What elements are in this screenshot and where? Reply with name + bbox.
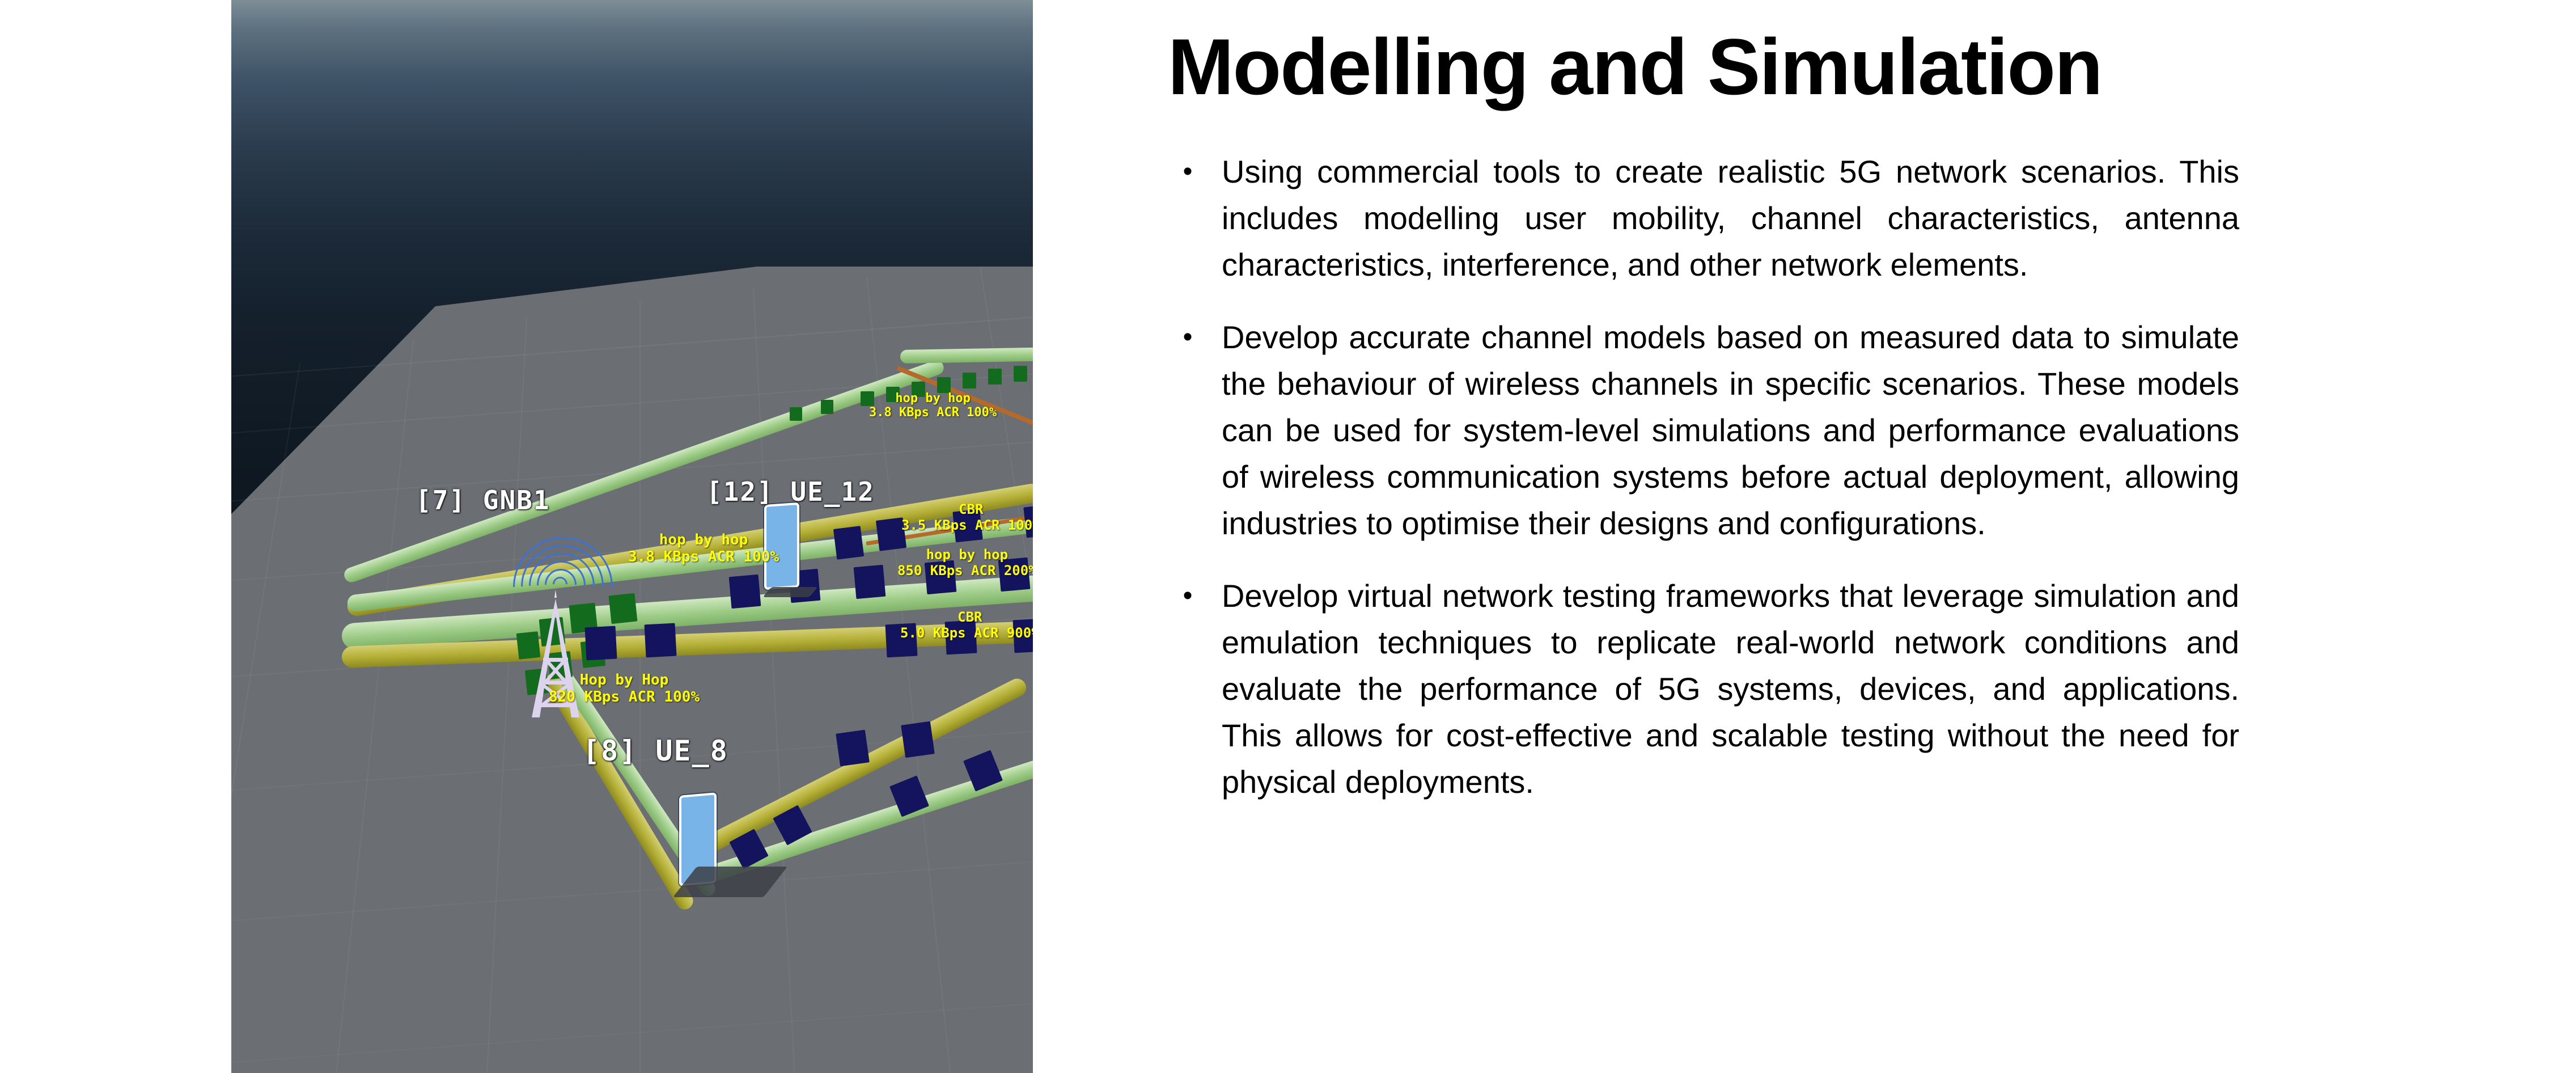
node-label-ue8: [8] UE_8	[583, 734, 728, 767]
network-simulation-image: [7] GNB1 [12] UE_12 [8] UE_8 [2] AMF [9]…	[231, 0, 1033, 1073]
flow-rate: 3.5 KBps ACR 100%	[901, 518, 1033, 534]
bullet-marker-icon: •	[1154, 149, 1222, 288]
bullet-text: Develop virtual network testing framewor…	[1222, 573, 2248, 805]
list-item: • Develop accurate channel models based …	[1154, 314, 2248, 547]
flow-rate: 820 KBps ACR 100%	[549, 689, 700, 706]
bullet-marker-icon: •	[1154, 314, 1222, 547]
flow-name: Hop by Hop	[549, 672, 700, 689]
bullet-marker-icon: •	[1154, 573, 1222, 805]
flow-name: hop by hop	[897, 547, 1033, 563]
flow-rate: 5.0 KBps ACR 900%	[900, 626, 1033, 641]
flow-label-gnb-ue8: Hop by Hop 820 KBps ACR 100%	[549, 672, 700, 706]
flow-name: hop by hop	[628, 532, 779, 549]
flow-name: CBR	[900, 610, 1033, 626]
list-item: • Develop virtual network testing framew…	[1154, 573, 2248, 805]
bullet-list: • Using commercial tools to create reali…	[1154, 149, 2248, 805]
slide-root: [7] GNB1 [12] UE_12 [8] UE_8 [2] AMF [9]…	[0, 0, 2576, 1073]
bullet-text: Using commercial tools to create realist…	[1222, 149, 2248, 288]
flow-label-gnb-ue12: hop by hop 3.8 KBps ACR 100%	[628, 532, 779, 566]
node-label-ue12: [12] UE_12	[706, 476, 875, 507]
flow-label-cbr-upper: CBR 3.5 KBps ACR 100%	[901, 502, 1033, 533]
flow-rate: 3.8 KBps ACR 100%	[869, 405, 997, 420]
flow-name: hop by hop	[869, 391, 997, 405]
list-item: • Using commercial tools to create reali…	[1154, 149, 2248, 288]
page-title: Modelling and Simulation	[1168, 27, 2102, 107]
flow-label-cbr-lower: CBR 5.0 KBps ACR 900%	[900, 610, 1033, 641]
flow-label-hop-mid: hop by hop 850 KBps ACR 200%	[897, 547, 1033, 578]
flow-rate: 3.8 KBps ACR 100%	[628, 549, 779, 566]
content-column: Modelling and Simulation • Using commerc…	[1154, 0, 2287, 1073]
flow-label-amf-link: hop by hop 3.8 KBps ACR 100%	[869, 391, 997, 420]
bullet-text: Develop accurate channel models based on…	[1222, 314, 2248, 547]
node-label-gnb1: [7] GNB1	[416, 485, 550, 516]
ue12-phone-shadow	[762, 587, 817, 597]
flow-name: CBR	[901, 502, 1033, 518]
flow-rate: 850 KBps ACR 200%	[897, 563, 1033, 579]
